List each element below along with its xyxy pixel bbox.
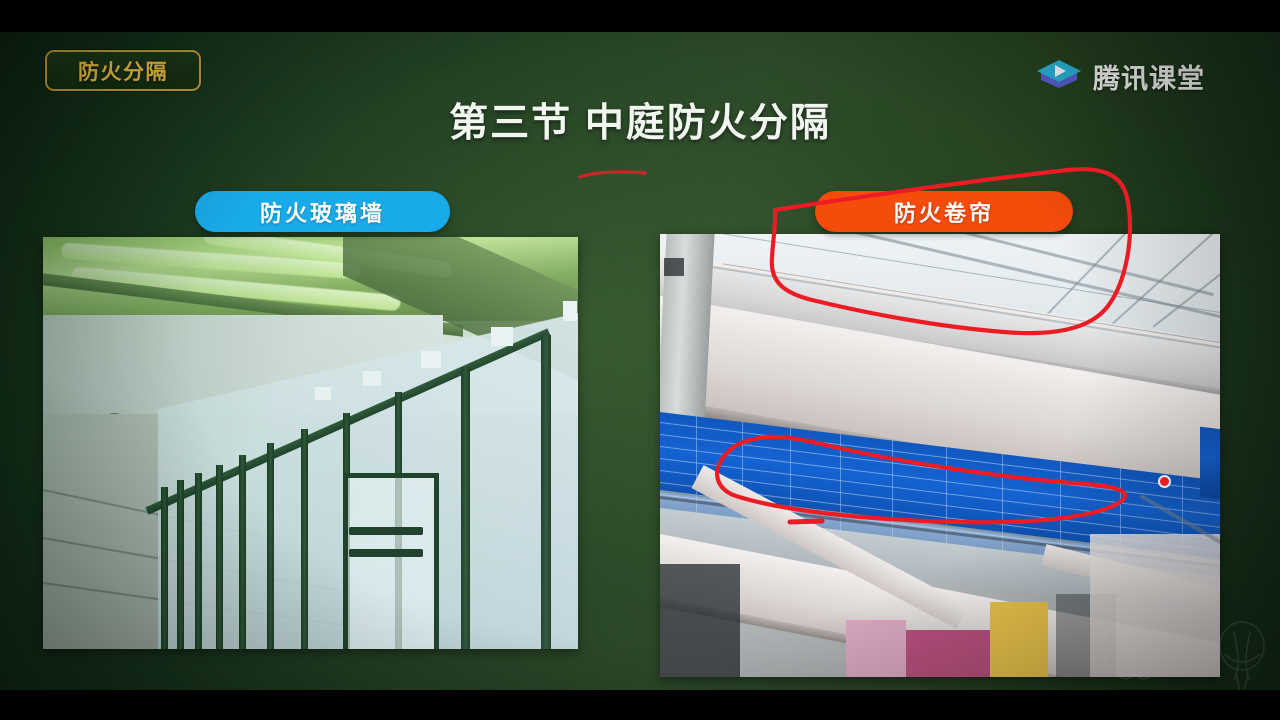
cursor-pointer[interactable] [1160,477,1169,486]
letterbox-top [0,0,1280,32]
presentation-slide: 防火玻璃墙 防火卷帘 防火分隔 第三节 中庭防火分隔 腾讯课堂 [0,32,1280,690]
letterbox-bottom [0,690,1280,720]
screen: 防火玻璃墙 防火卷帘 防火分隔 第三节 中庭防火分隔 腾讯课堂 [0,0,1280,720]
slide-vignette [0,32,1280,690]
